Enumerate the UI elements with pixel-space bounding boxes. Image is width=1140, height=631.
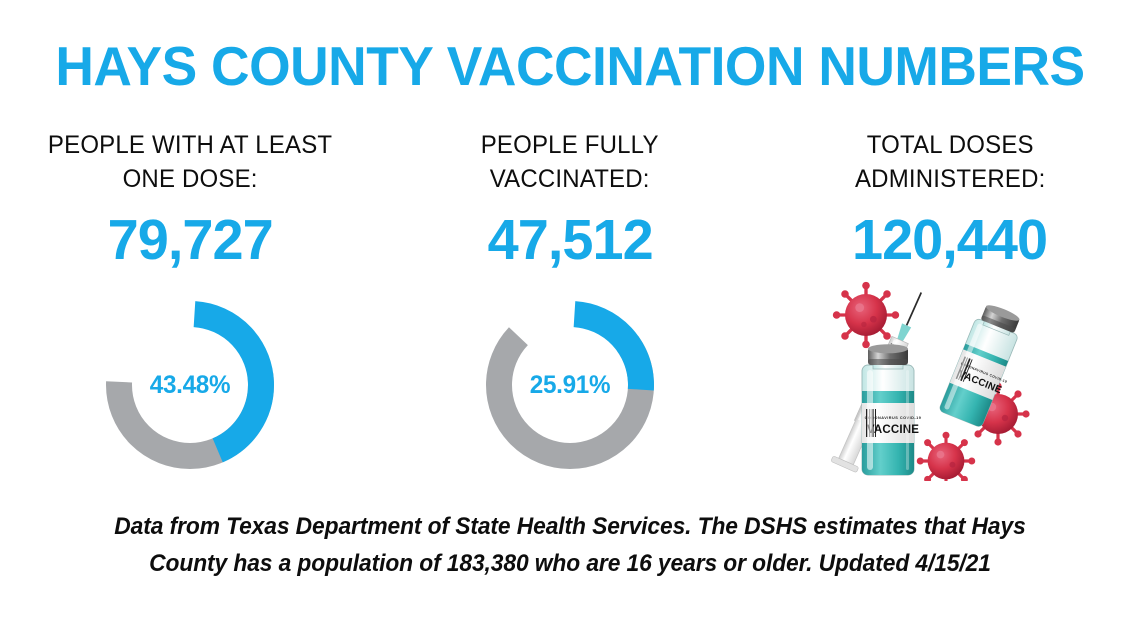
donut-chart-fully-vaccinated: 25.91% bbox=[482, 297, 658, 473]
svg-text:CORONAVIRUS COVID-19: CORONAVIRUS COVID-19 bbox=[865, 416, 922, 420]
column-value-fully-vaccinated: 47,512 bbox=[488, 212, 653, 269]
vaccine-vial-icon: CORONAVIRUS COVID-19 VACCINE bbox=[939, 301, 1032, 431]
donut-percent-label-at-least-one-dose: 43.48% bbox=[105, 297, 276, 473]
stat-column-at-least-one-dose: PEOPLE WITH AT LEAST ONE DOSE: 79,727 43… bbox=[0, 128, 380, 488]
stat-column-total-doses: TOTAL DOSES ADMINISTERED: 120,440 bbox=[760, 128, 1140, 488]
svg-text:VACCINE: VACCINE bbox=[867, 424, 919, 436]
column-heading-fully-vaccinated: PEOPLE FULLY VACCINATED: bbox=[481, 128, 659, 200]
vaccine-vial-icon: CORONAVIRUS COVID-19 VACCINE bbox=[862, 344, 921, 475]
source-note: Data from Texas Department of State Heal… bbox=[114, 508, 1026, 582]
donut-chart-at-least-one-dose: 43.48% bbox=[102, 297, 278, 473]
page-title: HAYS COUNTY VACCINATION NUMBERS bbox=[17, 38, 1123, 96]
stat-column-fully-vaccinated: PEOPLE FULLY VACCINATED: 47,512 25.91% bbox=[380, 128, 760, 488]
vaccination-infographic: HAYS COUNTY VACCINATION NUMBERS PEOPLE W… bbox=[0, 0, 1140, 631]
virus-particle-icon bbox=[833, 282, 899, 348]
column-heading-total-doses: TOTAL DOSES ADMINISTERED: bbox=[855, 128, 1046, 200]
column-heading-at-least-one-dose: PEOPLE WITH AT LEAST ONE DOSE: bbox=[48, 128, 332, 200]
vaccine-illustration-svg: CORONAVIRUS COVID-19 VACCINE bbox=[830, 281, 1070, 481]
donut-percent-label-fully-vaccinated: 25.91% bbox=[485, 297, 656, 473]
column-value-at-least-one-dose: 79,727 bbox=[108, 212, 273, 269]
virus-particle-icon bbox=[917, 432, 976, 481]
column-value-total-doses: 120,440 bbox=[852, 212, 1047, 269]
stats-columns: PEOPLE WITH AT LEAST ONE DOSE: 79,727 43… bbox=[0, 128, 1140, 488]
vaccine-illustration: CORONAVIRUS COVID-19 VACCINE bbox=[830, 281, 1070, 481]
